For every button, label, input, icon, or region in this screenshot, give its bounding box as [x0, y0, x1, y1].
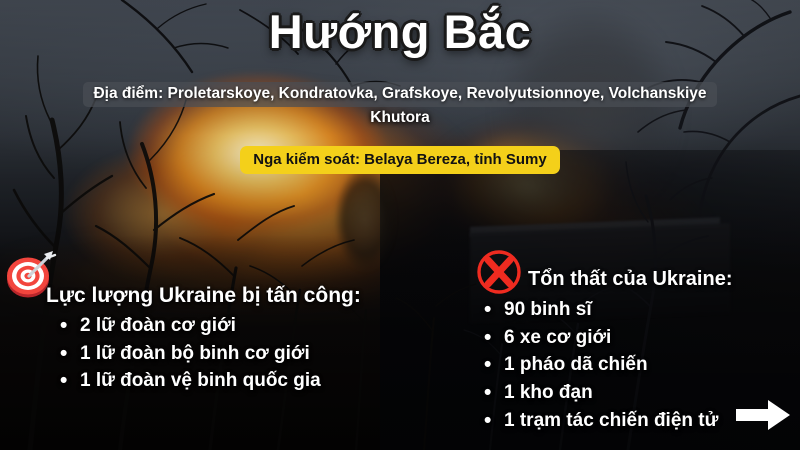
left-panel: Lực lượng Ukraine bị tấn công: 2 lữ đoàn… — [0, 250, 470, 294]
page-title: Hướng Bắc — [0, 4, 800, 59]
location-label-line1: Địa điểm: Proletarskoye, Kondratovka, Gr… — [83, 82, 716, 107]
control-badge-text: Nga kiểm soát: Belaya Bereza, tỉnh Sumy — [240, 146, 559, 174]
list-item: 1 lữ đoàn vệ binh quốc gia — [58, 367, 458, 395]
list-item: 1 lữ đoàn bộ binh cơ giới — [58, 340, 458, 368]
red-circle-x-icon — [474, 249, 524, 297]
list-item: 2 lữ đoàn cơ giới — [58, 312, 458, 340]
control-badge: Nga kiểm soát: Belaya Bereza, tỉnh Sumy — [0, 146, 800, 174]
list-item: 1 pháo dã chiến — [482, 351, 800, 379]
location-label-line2: Khutora — [0, 109, 800, 127]
right-panel-heading: Tổn thất của Ukraine: — [528, 268, 732, 291]
list-item: 6 xe cơ giới — [482, 324, 800, 352]
arrow-right-icon — [734, 398, 792, 432]
infographic-slide: Hướng Bắc Địa điểm: Proletarskoye, Kondr… — [0, 0, 800, 450]
left-panel-heading: Lực lượng Ukraine bị tấn công: — [46, 284, 361, 308]
left-panel-header: Lực lượng Ukraine bị tấn công: — [0, 250, 470, 294]
content-overlay: Hướng Bắc Địa điểm: Proletarskoye, Kondr… — [0, 0, 800, 450]
list-item: 90 binh sĩ — [482, 296, 800, 324]
location-block: Địa điểm: Proletarskoye, Kondratovka, Gr… — [0, 82, 800, 127]
left-panel-list: 2 lữ đoàn cơ giới 1 lữ đoàn bộ binh cơ g… — [58, 312, 458, 395]
